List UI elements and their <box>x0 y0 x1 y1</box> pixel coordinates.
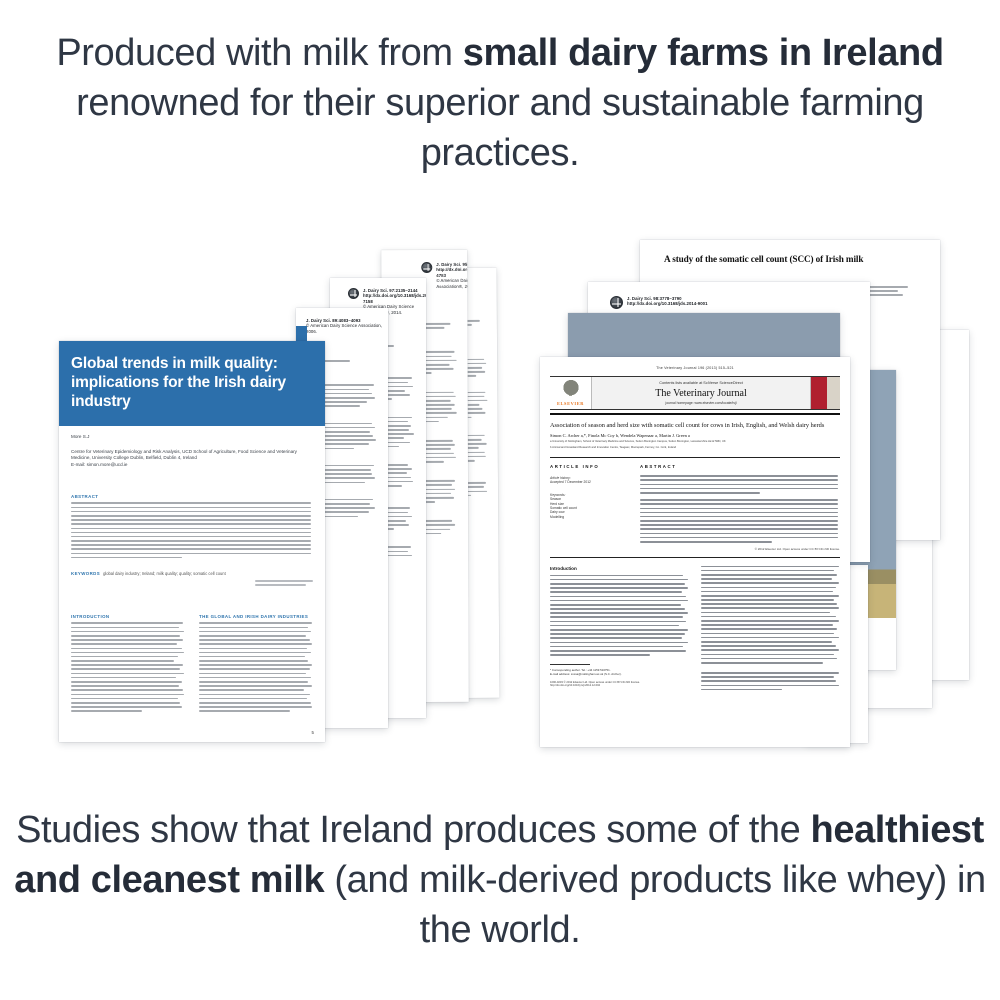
vj-cover-thumbnail <box>810 377 840 409</box>
elsevier-wordmark: ELSEVIER <box>557 401 584 406</box>
headline-bottom-part1: Studies show that Ireland produces some … <box>16 809 810 851</box>
introduction-heading: INTRODUCTION <box>71 614 185 619</box>
global-trends-affiliation: Centre for Veterinary Epidemiology and R… <box>59 449 325 462</box>
elsevier-tree-icon <box>558 380 584 400</box>
global-irish-dairy-body <box>199 622 313 712</box>
page-title-bottom: Studies show that Ireland produces some … <box>0 805 1000 955</box>
citation-text-jds98: J. Dairy Sci. 98:3778–3790 http://dx.doi… <box>627 296 708 307</box>
vj-intro-col-left <box>550 575 689 656</box>
vj-masthead: ELSEVIER Contents lists available at Sci… <box>550 376 840 410</box>
global-trends-email: E-mail: simon.more@ucd.ie <box>59 462 325 469</box>
document-card-veterinary-journal: The Veterinary Journal 196 (2013) 515–52… <box>540 357 850 747</box>
keywords-text: global dairy industry; Ireland; milk qua… <box>103 571 226 576</box>
citation-text-3: J. Dairy Sci. 95:1337–1348 http://dx.doi… <box>436 262 469 289</box>
headline-bottom-part2: (and milk-derived products like whey) in… <box>324 859 986 951</box>
vj-journal-name: The Veterinary Journal <box>592 388 810 399</box>
headline-top-part1: Produced with milk from <box>56 32 462 74</box>
headline-top-part2: renowned for their superior and sustaina… <box>76 82 924 174</box>
vj-running-head: The Veterinary Journal 196 (2013) 515–52… <box>540 357 850 370</box>
citation-text-1: J. Dairy Sci. 89:4083–4093 © American Da… <box>306 318 388 334</box>
vj-homepage-line: journal homepage: www.elsevier.com/locat… <box>592 401 810 405</box>
keywords-heading: KEYWORDS <box>71 571 100 576</box>
vj-intro-col-right <box>701 566 840 691</box>
vj-copyright-line: © 2012 Elsevier Ltd. Open access under C… <box>640 547 840 551</box>
journal-globe-icon <box>421 262 432 273</box>
global-trends-title-band: Global trends in milk quality: implicati… <box>59 341 325 426</box>
vj-article-title: Association of season and herd size with… <box>540 415 850 430</box>
poster-canvas: Produced with milk from small dairy farm… <box>0 0 1000 1000</box>
document-card-global-trends: Global trends in milk quality: implicati… <box>59 341 325 742</box>
page-title-top: Produced with milk from small dairy farm… <box>0 28 1000 178</box>
vj-abstract-body <box>640 475 840 542</box>
journal-globe-icon <box>348 288 359 299</box>
scc-study-title: A study of the somatic cell count (SCC) … <box>640 240 940 264</box>
elsevier-logo: ELSEVIER <box>550 377 592 409</box>
global-trends-title: Global trends in milk quality: implicati… <box>71 355 286 410</box>
page-number: 5 <box>312 730 314 735</box>
vj-footer-doi2: http://dx.doi.org/10.1016/j.tvjl.2012.12… <box>550 684 689 687</box>
vj-contents-line: Contents lists available at SciVerse Sci… <box>592 381 810 385</box>
global-trends-author: More S.J <box>59 434 325 441</box>
abstract-heading: ABSTRACT <box>71 494 313 499</box>
vj-affiliation-b: b Animal and Grassland Research and Inno… <box>540 444 850 450</box>
global-irish-dairy-heading: THE GLOBAL AND IRISH DAIRY INDUSTRIES <box>199 614 313 619</box>
vj-keywords-list: Season Herd size Somatic cell count Dair… <box>550 497 628 519</box>
introduction-body <box>71 622 185 712</box>
vj-authors: Simon C. Archer a,*, Finola Mc Coy b, We… <box>540 430 850 438</box>
headline-top-bold: small dairy farms in Ireland <box>463 32 944 74</box>
journal-globe-icon <box>610 296 623 309</box>
abstract-body <box>71 502 313 558</box>
vj-introduction-heading: Introduction <box>550 566 689 571</box>
